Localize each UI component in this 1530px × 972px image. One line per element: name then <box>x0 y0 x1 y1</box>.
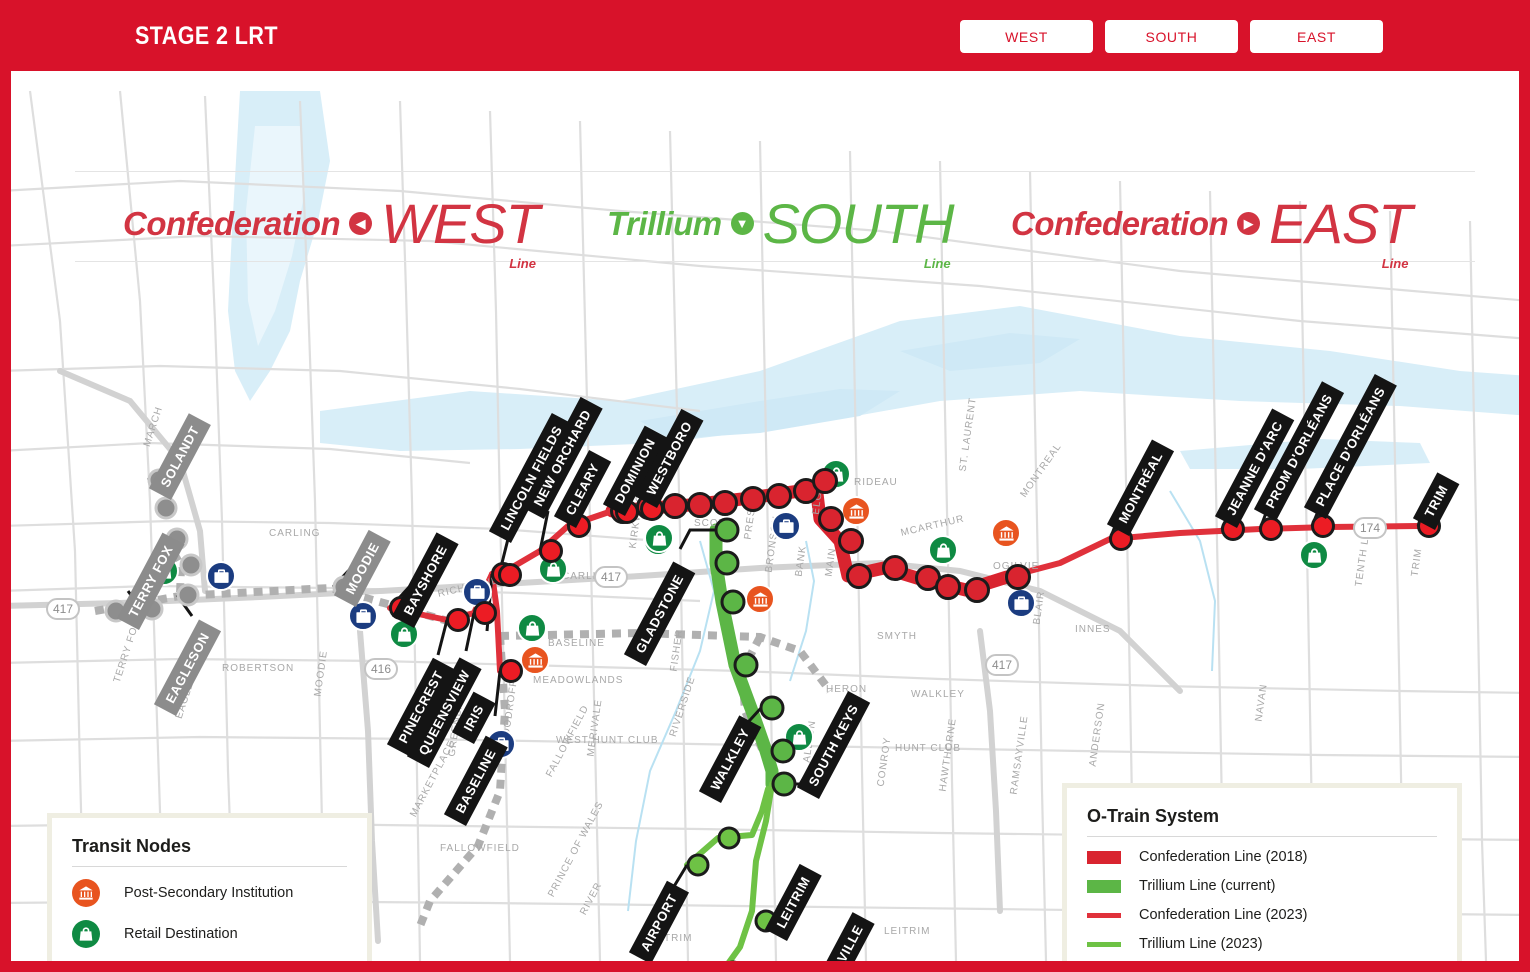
nav-button-east[interactable]: EAST <box>1250 20 1383 53</box>
legend-line-swatch <box>1087 880 1121 893</box>
legend-line-swatch-wrap <box>1087 880 1139 893</box>
poi-institution-icon <box>745 584 775 614</box>
banner-confederation-west[interactable]: Confederation Line ◀ WEST <box>123 191 539 256</box>
poi-briefcase-icon <box>1006 588 1036 618</box>
station-dot[interactable] <box>935 574 961 600</box>
banner-rule-bottom <box>75 261 1475 262</box>
legend-node-icon-wrap <box>72 879 124 907</box>
legend-line-swatch-wrap <box>1087 942 1139 947</box>
station-dot[interactable] <box>715 551 740 576</box>
legend-nodes-title: Transit Nodes <box>72 836 347 857</box>
institution-icon <box>72 879 100 907</box>
highway-shield: 174 <box>1353 517 1387 539</box>
legend-node-row: Retail Destination <box>72 920 347 948</box>
legend-line-label: Trillium Line (current) <box>1139 878 1275 894</box>
station-dot[interactable] <box>846 563 872 589</box>
legend-otrain-divider <box>1087 836 1437 837</box>
station-dot[interactable] <box>662 493 688 519</box>
banner-west-line: Confederation <box>123 205 340 243</box>
poi-shopping-bag-icon <box>1299 540 1329 570</box>
chevron-right-icon: ▶ <box>1237 212 1260 235</box>
legend-node-row: Post-Secondary Institution <box>72 879 347 907</box>
poi-institution-icon <box>841 496 871 526</box>
page-title: STAGE 2 LRT <box>135 22 278 51</box>
legend-line-swatch-wrap <box>1087 851 1139 864</box>
legend-transit-nodes: Transit Nodes Post-Secondary Institution… <box>47 813 372 972</box>
banner-confederation-east[interactable]: Confederation Line ▶ EAST <box>1011 191 1411 256</box>
station-dot[interactable] <box>718 827 741 850</box>
station-dot-bowesville[interactable] <box>722 961 745 972</box>
station-dot[interactable] <box>155 497 178 520</box>
street-label: MEADOWLANDS <box>533 675 623 686</box>
legend-node-label: Major Employment Hub <box>124 967 276 972</box>
banner-trillium-south[interactable]: Trillium Line ▼ SOUTH <box>607 191 954 256</box>
banner-south-sub: Line <box>924 256 951 271</box>
station-dot[interactable] <box>882 555 908 581</box>
legend-node-row: Major Employment Hub <box>72 961 347 972</box>
station-dot-airport[interactable] <box>687 854 710 877</box>
banner-south-word: SOUTH <box>763 191 954 256</box>
station-dot[interactable] <box>818 506 844 532</box>
nav-button-west[interactable]: WEST <box>960 20 1093 53</box>
legend-line-swatch <box>1087 913 1121 918</box>
street-label: RIDEAU <box>854 477 898 488</box>
street-label: WALKLEY <box>911 689 965 700</box>
shopping-bag-icon <box>72 920 100 948</box>
chevron-down-icon: ▼ <box>731 212 754 235</box>
street-label: LEITRIM <box>884 926 930 937</box>
station-dot-new-orchard[interactable] <box>539 539 563 563</box>
street-label: BASELINE <box>548 638 605 649</box>
legend-node-icon-wrap <box>72 920 124 948</box>
highway-shield: 417 <box>985 654 1019 676</box>
legend-line-row: Confederation Line (2018) <box>1087 849 1437 865</box>
street-label: CARLING <box>269 528 320 539</box>
station-dot-lincoln-fields[interactable] <box>498 563 522 587</box>
street-label: SMYTH <box>877 631 917 642</box>
station-dot-walkley[interactable] <box>760 696 785 721</box>
legend-line-swatch <box>1087 851 1121 864</box>
station-dot[interactable] <box>740 486 766 512</box>
station-dot[interactable] <box>964 577 990 603</box>
banner-east-line: Confederation <box>1011 205 1228 243</box>
street-label: FALLOWFIELD <box>440 843 520 854</box>
poi-institution-icon <box>991 518 1021 548</box>
station-dot-queensview[interactable] <box>473 601 497 625</box>
highway-shield: 417 <box>594 566 628 588</box>
banner-south-line: Trillium <box>607 205 722 243</box>
station-dot-baseline[interactable] <box>499 659 523 683</box>
nav-button-south[interactable]: SOUTH <box>1105 20 1238 53</box>
briefcase-icon <box>72 961 100 972</box>
banner-east-word: EAST <box>1269 191 1411 256</box>
legend-line-row: Trillium Line (current) <box>1087 878 1437 894</box>
chevron-left-icon: ◀ <box>349 212 372 235</box>
poi-shopping-bag-icon <box>928 535 958 565</box>
station-dot-prom-d-orl-ans[interactable] <box>1259 517 1283 541</box>
poi-briefcase-icon <box>771 511 801 541</box>
map-frame: Confederation Line ◀ WEST Trillium Line … <box>0 71 1530 972</box>
station-dot[interactable] <box>812 468 838 494</box>
station-dot[interactable] <box>721 590 746 615</box>
station-dot[interactable] <box>734 653 759 678</box>
poi-institution-icon <box>520 645 550 675</box>
station-dot[interactable] <box>687 492 713 518</box>
poi-shopping-bag-icon <box>644 523 674 553</box>
station-dot[interactable] <box>766 483 792 509</box>
station-dot[interactable] <box>180 554 203 577</box>
highway-shield: 417 <box>46 598 80 620</box>
banner-east-sub: Line <box>1382 256 1409 271</box>
legend-line-row: Bus Rapid Transit <box>1087 965 1437 972</box>
legend-line-swatch <box>1087 942 1121 947</box>
station-dot[interactable] <box>712 490 738 516</box>
station-dot-gladstone[interactable] <box>715 518 740 543</box>
banner-west-sub: Line <box>509 256 536 271</box>
legend-line-label: Bus Rapid Transit <box>1139 965 1253 972</box>
legend-node-icon-wrap <box>72 961 124 972</box>
legend-otrain-rows: Confederation Line (2018)Trillium Line (… <box>1087 849 1437 972</box>
legend-line-label: Confederation Line (2023) <box>1139 907 1307 923</box>
legend-nodes-rows: Post-Secondary InstitutionRetail Destina… <box>72 879 347 972</box>
legend-otrain-title: O-Train System <box>1087 806 1437 827</box>
transit-map-page: STAGE 2 LRT WEST SOUTH EAST <box>0 0 1530 972</box>
poi-shopping-bag-icon <box>517 613 547 643</box>
highway-shield: 416 <box>364 658 398 680</box>
poi-briefcase-icon <box>206 561 236 591</box>
banner-west-word: WEST <box>381 191 539 256</box>
header-nav: WEST SOUTH EAST <box>960 20 1383 53</box>
legend-otrain-system: O-Train System Confederation Line (2018)… <box>1062 783 1462 972</box>
legend-line-swatch-wrap <box>1087 913 1139 918</box>
legend-nodes-divider <box>72 866 347 867</box>
legend-node-label: Retail Destination <box>124 926 238 942</box>
station-dot-south-keys[interactable] <box>772 772 797 797</box>
legend-line-row: Trillium Line (2023) <box>1087 936 1437 952</box>
app-header: STAGE 2 LRT WEST SOUTH EAST <box>0 0 1530 71</box>
station-dot[interactable] <box>771 739 796 764</box>
station-dot-eagleson[interactable] <box>177 584 200 607</box>
legend-node-label: Post-Secondary Institution <box>124 885 293 901</box>
banner-rule-top <box>75 171 1475 172</box>
legend-line-row: Confederation Line (2023) <box>1087 907 1437 923</box>
legend-line-label: Trillium Line (2023) <box>1139 936 1263 952</box>
street-label: INNES <box>1075 624 1111 635</box>
station-dot[interactable] <box>1005 564 1031 590</box>
street-label: ROBERTSON <box>222 663 294 674</box>
legend-line-label: Confederation Line (2018) <box>1139 849 1307 865</box>
station-dot-pinecrest[interactable] <box>446 608 470 632</box>
station-dot[interactable] <box>838 528 864 554</box>
